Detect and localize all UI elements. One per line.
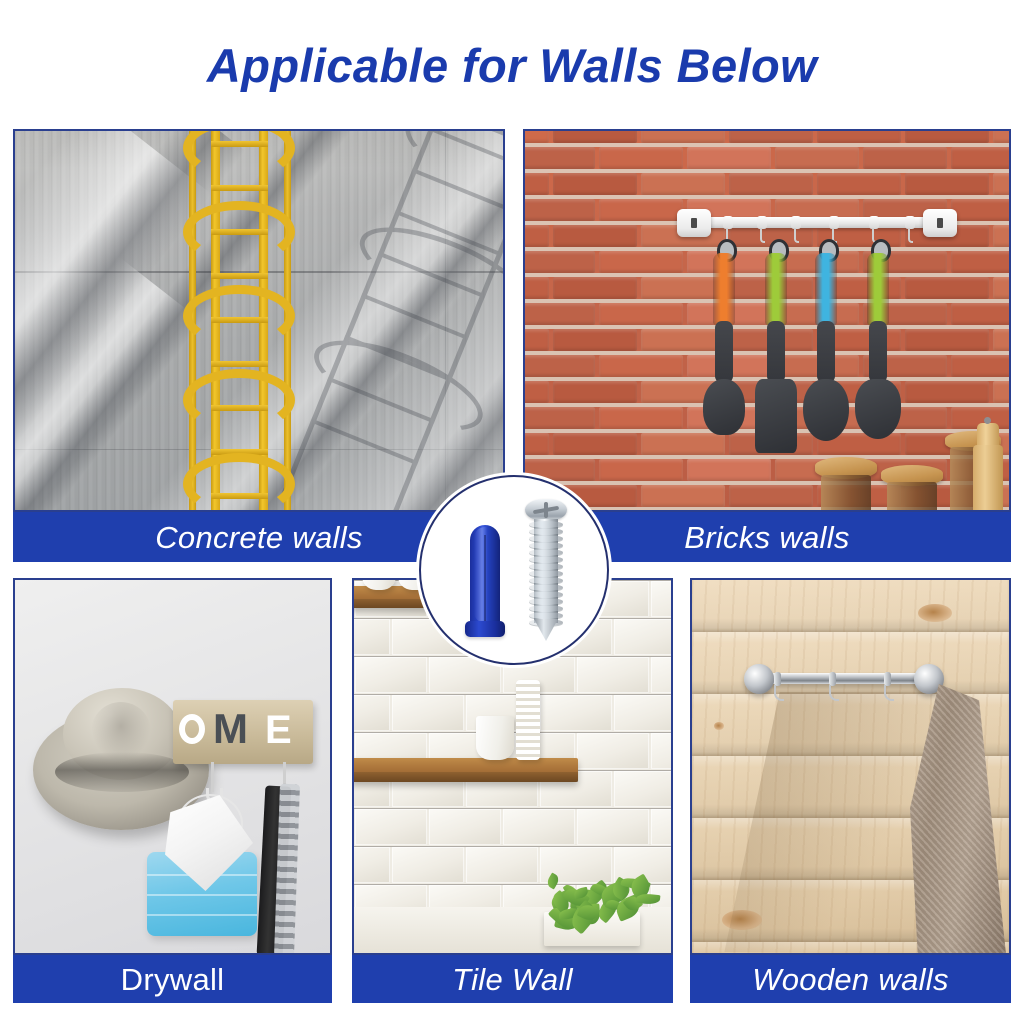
wall-anchor-illustration bbox=[465, 525, 505, 637]
chrome-towel-rail bbox=[744, 660, 944, 700]
rail-hook bbox=[829, 672, 836, 686]
panel-concrete[interactable] bbox=[13, 129, 505, 512]
rail-hook bbox=[774, 672, 781, 686]
pepper-mill bbox=[973, 445, 1003, 510]
caged-safety-ladder bbox=[187, 131, 293, 510]
page-title: Applicable for Walls Below bbox=[0, 38, 1024, 93]
home-letter-hook-rack: M E bbox=[173, 700, 313, 764]
brick-photo bbox=[525, 131, 1009, 510]
caption-drywall-label: Drywall bbox=[121, 964, 225, 995]
caption-concrete-label: Concrete walls bbox=[155, 522, 363, 553]
hanging-utensils bbox=[525, 131, 1009, 510]
concrete-photo bbox=[15, 131, 503, 510]
rack-hook bbox=[211, 762, 214, 792]
panel-wood[interactable] bbox=[690, 578, 1011, 955]
rail-hook bbox=[884, 672, 891, 686]
rack-letter-m: M bbox=[213, 708, 248, 750]
utensil-slotted-spoon bbox=[713, 239, 735, 449]
pepper-mill-knob bbox=[984, 417, 991, 424]
screw-illustration bbox=[525, 499, 567, 641]
caption-drywall: Drywall bbox=[13, 955, 332, 1003]
caption-tile-label: Tile Wall bbox=[452, 964, 573, 995]
utensil-ladle bbox=[867, 239, 889, 449]
rail-mount bbox=[744, 664, 774, 694]
caption-tile: Tile Wall bbox=[352, 955, 673, 1003]
wood-knot bbox=[714, 722, 724, 730]
infographic-canvas: Applicable for Walls Below bbox=[0, 0, 1024, 1024]
storage-jar bbox=[815, 457, 877, 510]
rack-letter-o bbox=[179, 714, 205, 744]
rack-letter-e: E bbox=[265, 710, 292, 750]
panel-bricks[interactable] bbox=[523, 129, 1011, 512]
wood-photo bbox=[692, 580, 1009, 953]
product-badge bbox=[419, 475, 609, 665]
wood-knot bbox=[918, 604, 952, 622]
panel-drywall[interactable]: M E bbox=[13, 578, 332, 955]
storage-jar bbox=[881, 465, 943, 510]
caption-bricks-label: Bricks walls bbox=[684, 522, 850, 553]
drywall-photo: M E bbox=[15, 580, 330, 953]
rail-rod bbox=[762, 673, 928, 684]
caption-wood: Wooden walls bbox=[690, 955, 1011, 1003]
caption-wood-label: Wooden walls bbox=[752, 964, 949, 995]
utensil-turner-spatula bbox=[765, 239, 787, 449]
utensil-skimmer bbox=[815, 239, 837, 449]
